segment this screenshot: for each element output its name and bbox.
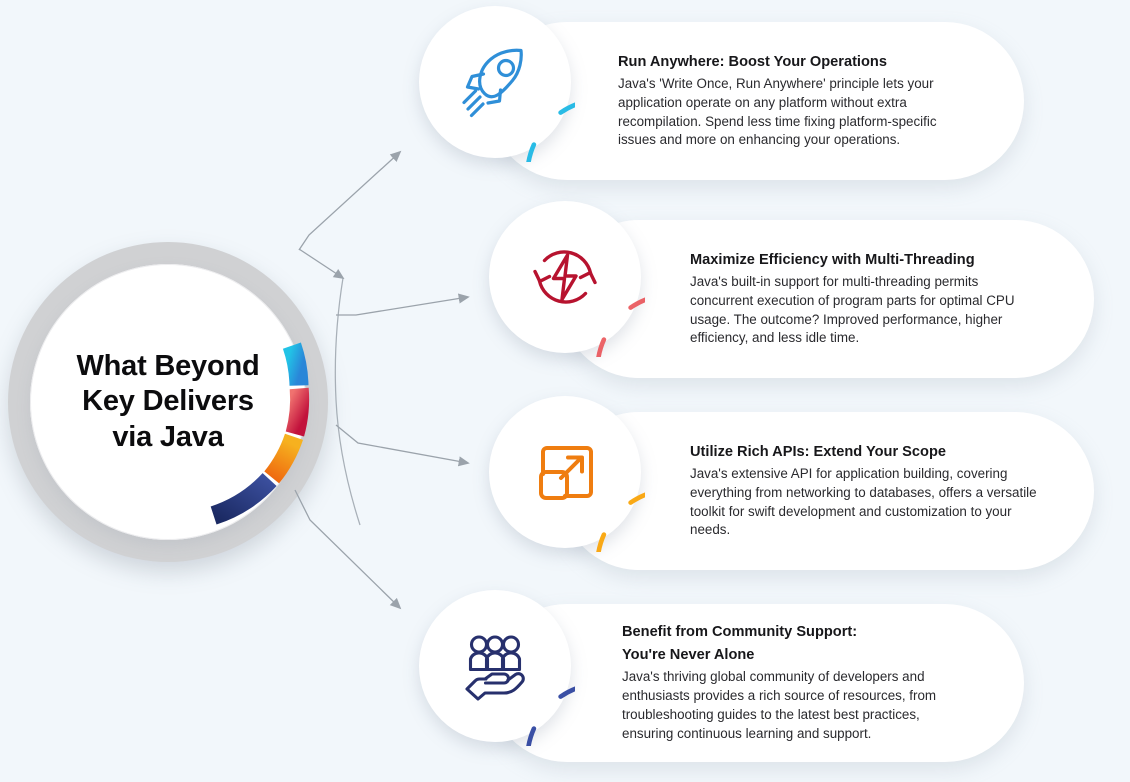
infographic-canvas: What Beyond Key Delivers via Java Run An…: [0, 0, 1130, 782]
arrow-3: [336, 425, 468, 463]
arrow-2: [336, 297, 468, 315]
card-description: Java's 'Write Once, Run Anywhere' princi…: [618, 75, 946, 151]
card-title: Benefit from Community Support:: [622, 622, 952, 642]
card-description: Java's built-in support for multi-thread…: [690, 273, 1034, 349]
hub-title-line-3: via Java: [112, 420, 223, 455]
hand-people-icon: [419, 590, 571, 742]
rocket-icon: [419, 6, 571, 158]
hub-title-line-1: What Beyond: [76, 349, 259, 384]
icon-circle-multi-threading[interactable]: [489, 201, 641, 353]
refresh-bolt-icon: [489, 201, 641, 353]
card-description: Java's extensive API for application bui…: [690, 465, 1042, 541]
icon-circle-run-anywhere[interactable]: [419, 6, 571, 158]
expand-arrow-icon: [489, 396, 641, 548]
card-title-line-2: You're Never Alone: [622, 645, 952, 665]
hub-title-line-2: Key Delivers: [82, 384, 254, 419]
card-title: Run Anywhere: Boost Your Operations: [618, 52, 946, 72]
card-title: Utilize Rich APIs: Extend Your Scope: [690, 442, 1042, 462]
card-description: Java's thriving global community of deve…: [622, 668, 952, 744]
hub-title: What Beyond Key Delivers via Java: [8, 242, 328, 562]
arrow-1: [299, 152, 400, 250]
icon-circle-community-support[interactable]: [419, 590, 571, 742]
card-title: Maximize Efficiency with Multi-Threading: [690, 250, 1034, 270]
icon-circle-rich-apis[interactable]: [489, 396, 641, 548]
central-hub: What Beyond Key Delivers via Java: [8, 242, 328, 562]
